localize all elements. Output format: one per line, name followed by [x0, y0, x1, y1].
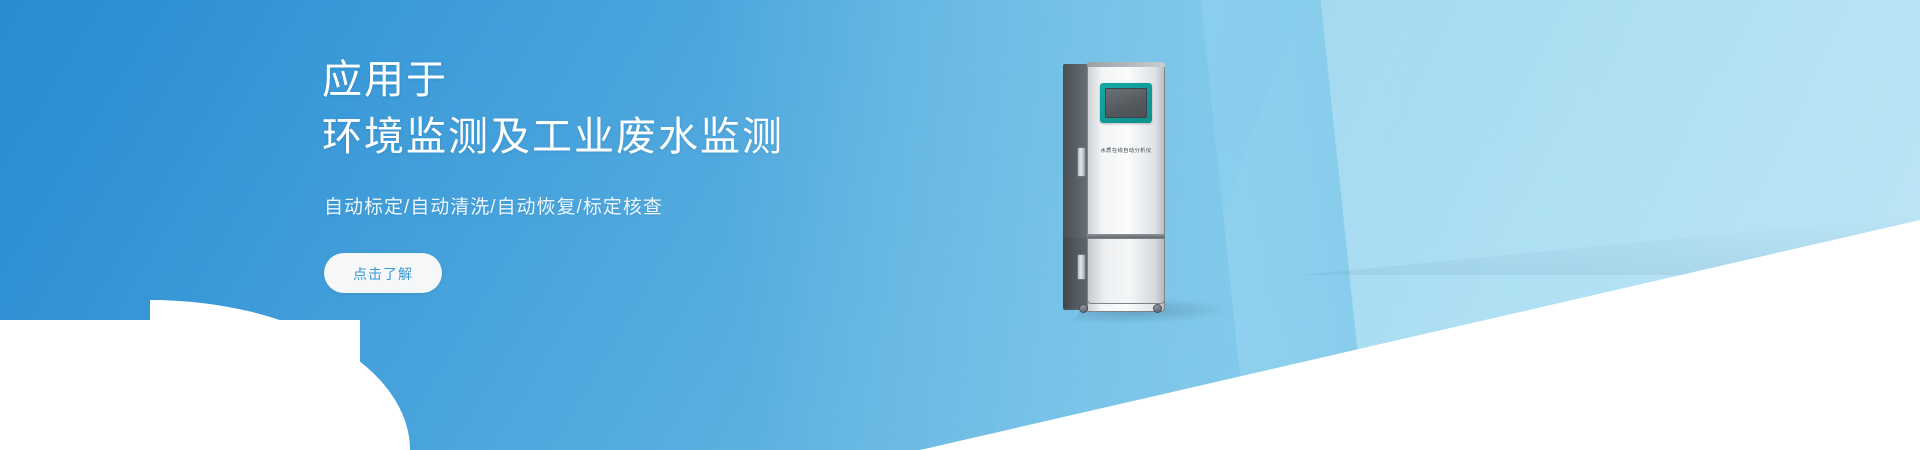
- cabinet-top-edge: [1087, 62, 1165, 67]
- lower-door-handle: [1077, 254, 1086, 280]
- display-bezel: [1100, 83, 1152, 123]
- product-image-analyzer: 水质在线自动分析仪: [1063, 62, 1183, 314]
- page-title: 应用于 环境监测及工业废水监测: [322, 52, 1082, 166]
- caster-wheel-left: [1079, 304, 1088, 313]
- caster-wheel-right: [1153, 304, 1162, 313]
- hero-subtitle: 自动标定/自动清洗/自动恢复/标定核查: [324, 192, 1082, 219]
- display-screen: [1105, 88, 1147, 118]
- cabinet-lower-door: [1087, 238, 1165, 304]
- headline-line-1: 应用于: [322, 52, 1082, 109]
- hero-copy: 应用于 环境监测及工业废水监测 自动标定/自动清洗/自动恢复/标定核查 点击了解: [322, 52, 1082, 293]
- learn-more-button[interactable]: 点击了解: [324, 253, 442, 293]
- headline-line-2: 环境监测及工业废水监测: [322, 109, 1082, 166]
- upper-door-handle: [1077, 147, 1086, 177]
- product-label: 水质在线自动分析仪: [1090, 146, 1161, 154]
- hero-banner: 应用于 环境监测及工业废水监测 自动标定/自动清洗/自动恢复/标定核查 点击了解…: [0, 0, 1920, 450]
